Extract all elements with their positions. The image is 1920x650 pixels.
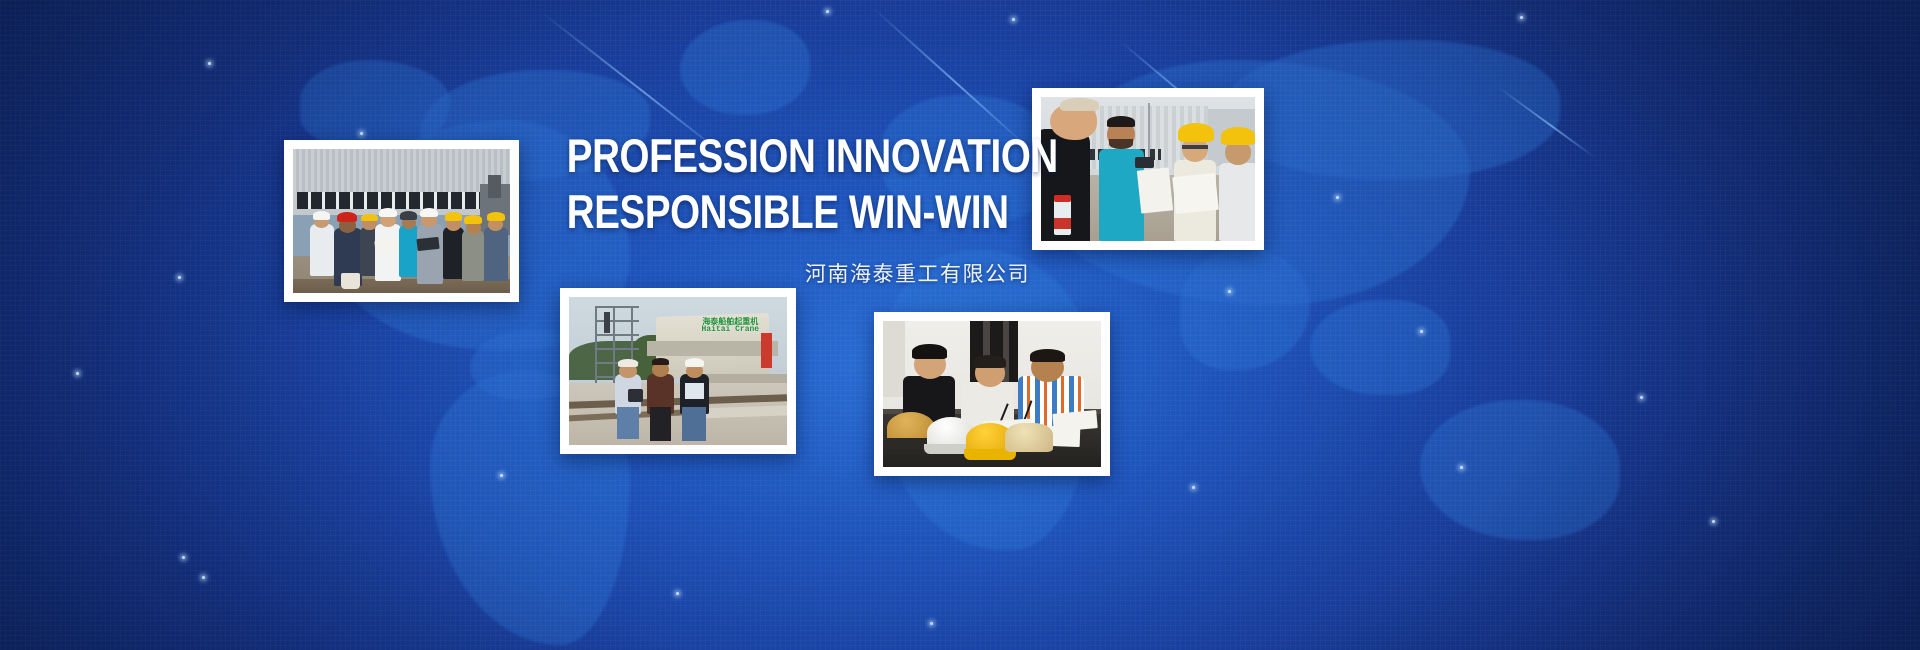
crane-brand-sign: 海泰船舶起重机 Haitai Crane [682,318,778,335]
hero-text-block: PROFESSION INNOVATION RESPONSIBLE WIN-WI… [520,128,1040,288]
sparkle-dot [676,592,679,595]
sparkle-dot [1712,520,1715,523]
headline-line-2: RESPONSIBLE WIN-WIN [567,184,993,240]
headline-line-1: PROFESSION INNOVATION [567,128,993,184]
sparkle-dot [178,276,181,279]
sparkle-dot [1228,290,1231,293]
photo-image-site-meeting [293,149,510,293]
sparkle-dot [1012,18,1015,21]
sparkle-dot [1192,486,1195,489]
sparkle-dot [202,576,205,579]
photo-contract-signing[interactable] [874,312,1110,476]
sparkle-dot [208,62,211,65]
sparkle-dot [826,10,829,13]
sparkle-dot [360,132,363,135]
photo-haitai-crane-delivery[interactable]: 海泰船舶起重机 Haitai Crane [560,288,796,454]
photo-image-haitai-crane: 海泰船舶起重机 Haitai Crane [569,297,787,445]
photo-image-contract-signing [883,321,1101,467]
sparkle-dot [182,556,185,559]
photo-client-site-visit[interactable] [1032,88,1264,250]
company-name-subtitle: 河南海泰重工有限公司 [520,258,1040,288]
sparkle-dot [1520,16,1523,19]
photo-image-client-visit [1041,97,1255,241]
sparkle-dot [500,474,503,477]
company-hero-banner: 海泰船舶起重机 Haitai Crane [0,0,1920,650]
sparkle-dot [1640,396,1643,399]
sparkle-dot [1420,330,1423,333]
sparkle-dot [930,622,933,625]
photo-workers-site-meeting[interactable] [284,140,519,302]
sparkle-dot [1460,466,1463,469]
crane-sign-english: Haitai Crane [702,325,760,334]
sparkle-dot [76,372,79,375]
sparkle-dot [1336,196,1339,199]
